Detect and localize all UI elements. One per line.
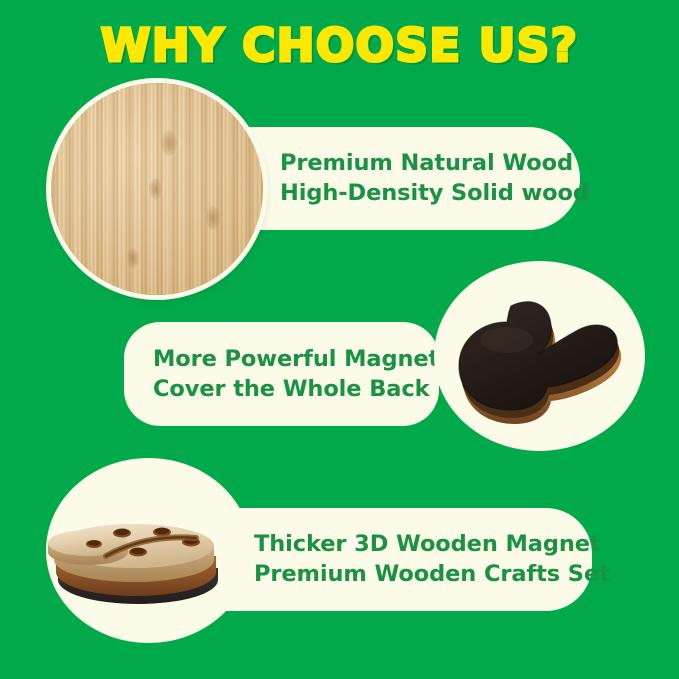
layered-wooden-craft-disc-photo — [36, 516, 251, 606]
why-choose-us-poster: WHY CHOOSE US? Premium Natural Wood High… — [0, 0, 679, 679]
page-title: WHY CHOOSE US? — [0, 22, 679, 69]
feature-card-text: Thicker 3D Wooden Magnet Premium Wooden … — [254, 529, 610, 589]
feature-line-2: Cover the Whole Back — [153, 374, 439, 404]
wood-knot-icon — [206, 206, 220, 230]
feature-line-2: High-Density Solid wood — [280, 178, 589, 208]
feature-line-1: Thicker 3D Wooden Magnet — [254, 529, 610, 559]
wood-knot-icon — [161, 130, 177, 156]
feature-card-text: More Powerful Magnet Cover the Whole Bac… — [153, 344, 439, 404]
feature-card-text: Premium Natural Wood High-Density Solid … — [280, 148, 589, 208]
feature-card-more-powerful-magnet: More Powerful Magnet Cover the Whole Bac… — [124, 322, 439, 426]
wood-knot-icon — [149, 178, 162, 200]
bamboo-round-board-photo — [51, 83, 263, 295]
wood-knot-icon — [127, 248, 139, 268]
feature-line-2: Premium Wooden Crafts Set — [254, 559, 610, 589]
feature-line-1: More Powerful Magnet — [153, 344, 439, 374]
feature-line-1: Premium Natural Wood — [280, 148, 589, 178]
bunny-magnet-back-photo — [447, 282, 632, 430]
